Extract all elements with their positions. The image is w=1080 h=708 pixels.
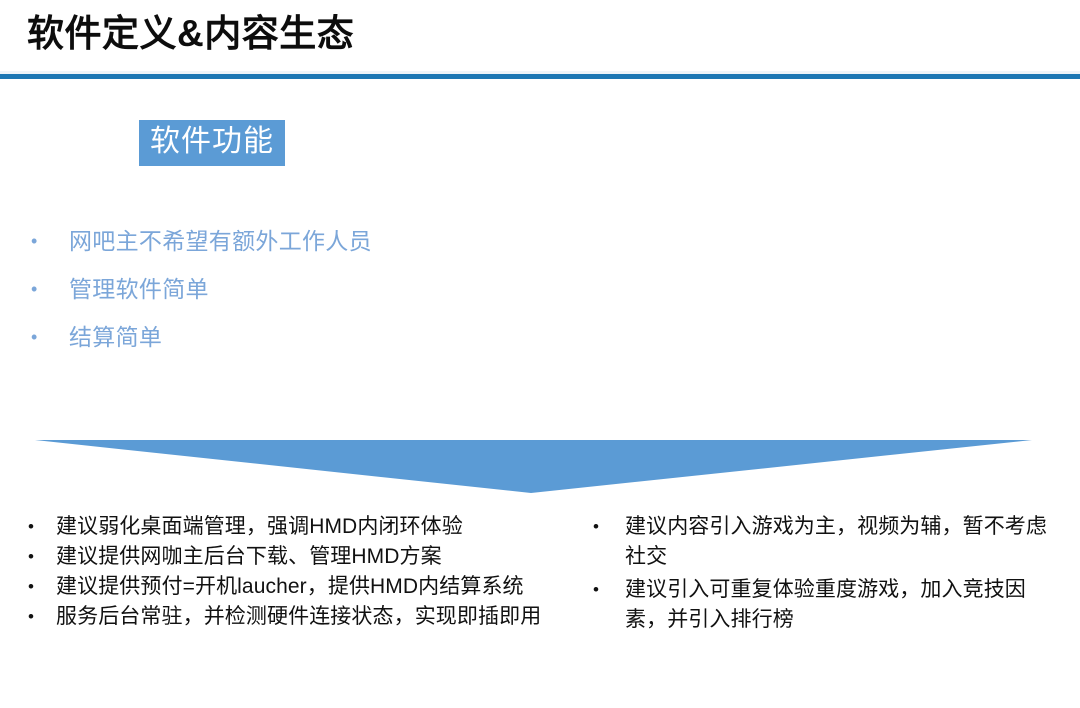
bullet-list-software-function: • 网吧主不希望有额外工作人员 • 管理软件简单 • 结算简单	[22, 217, 522, 361]
list-item: • 网吧主不希望有额外工作人员	[22, 217, 522, 265]
section-software-recommendations: • 建议弱化桌面端管理，强调HMD内闭环体验 • 建议提供网咖主后台下载、管理H…	[18, 512, 578, 632]
down-chevron-icon	[0, 432, 1080, 502]
list-item-label: 结算简单	[69, 313, 522, 361]
list-item: • 管理软件简单	[22, 265, 522, 313]
bullet-dot-icon: •	[18, 602, 56, 631]
list-item-label: 网吧主不希望有额外工作人员	[69, 217, 522, 265]
bullet-dot-icon: •	[583, 512, 625, 542]
section-badge-software-function: 软件功能	[139, 120, 285, 166]
bullet-dot-icon: •	[18, 542, 56, 571]
bullet-dot-icon: •	[22, 265, 69, 313]
list-item: • 服务后台常驻，并检测硬件连接状态，实现即插即用	[18, 602, 578, 631]
list-item: • 建议内容引入游戏为主，视频为辅，暂不考虑社交	[583, 512, 1063, 572]
page-title: 软件定义&内容生态	[27, 13, 354, 56]
list-item: • 结算简单	[22, 313, 522, 361]
bullet-dot-icon: •	[22, 313, 69, 361]
bullet-dot-icon: •	[18, 572, 56, 601]
section-content-recommendations: • 建议内容引入游戏为主，视频为辅，暂不考虑社交 • 建议引入可重复体验重度游戏…	[583, 512, 1063, 638]
list-item-label: 建议提供预付=开机laucher，提供HMD内结算系统	[56, 572, 578, 601]
slide-canvas: 软件定义&内容生态 软件功能 • 网吧主不希望有额外工作人员 • 管理软件简单 …	[0, 0, 1080, 708]
bullet-dot-icon: •	[22, 217, 69, 265]
list-item-label: 建议引入可重复体验重度游戏，加入竞技因素，并引入排行榜	[625, 575, 1063, 635]
bullet-dot-icon: •	[583, 575, 625, 605]
list-item: • 建议弱化桌面端管理，强调HMD内闭环体验	[18, 512, 578, 541]
list-item: • 建议引入可重复体验重度游戏，加入竞技因素，并引入排行榜	[583, 575, 1063, 635]
title-underline	[0, 74, 1080, 79]
list-item-label: 建议弱化桌面端管理，强调HMD内闭环体验	[56, 512, 578, 541]
list-item: • 建议提供预付=开机laucher，提供HMD内结算系统	[18, 572, 578, 601]
bullet-dot-icon: •	[18, 512, 56, 541]
list-item: • 建议提供网咖主后台下载、管理HMD方案	[18, 542, 578, 571]
list-item-label: 建议提供网咖主后台下载、管理HMD方案	[56, 542, 578, 571]
bullet-list-software-recommendations: • 建议弱化桌面端管理，强调HMD内闭环体验 • 建议提供网咖主后台下载、管理H…	[18, 512, 578, 631]
bullet-list-content-recommendations: • 建议内容引入游戏为主，视频为辅，暂不考虑社交 • 建议引入可重复体验重度游戏…	[583, 512, 1063, 635]
list-item-label: 管理软件简单	[69, 265, 522, 313]
list-item-label: 服务后台常驻，并检测硬件连接状态，实现即插即用	[56, 602, 578, 631]
down-arrow-container	[0, 432, 1080, 502]
list-item-label: 建议内容引入游戏为主，视频为辅，暂不考虑社交	[625, 512, 1063, 572]
